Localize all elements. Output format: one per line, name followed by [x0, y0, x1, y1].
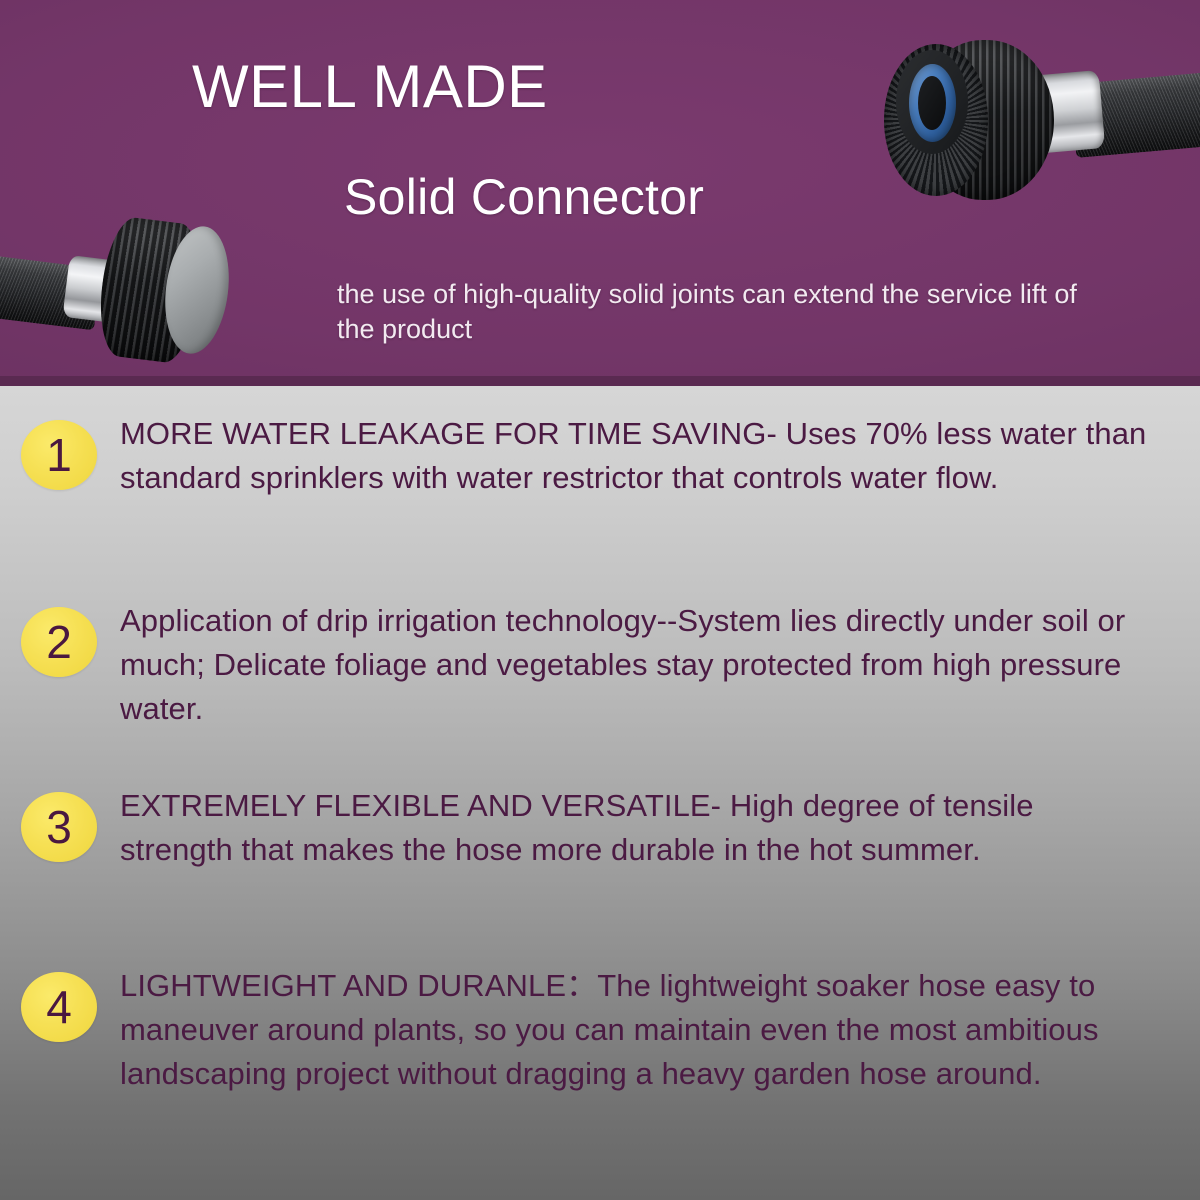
- hero-banner: WELL MADE Solid Connector the use of hig…: [0, 0, 1200, 386]
- feature-number-badge-3: 3: [21, 792, 97, 862]
- washer-bore: [918, 76, 946, 130]
- hose-end-cap-left-image: [0, 206, 258, 376]
- feature-list: 1 MORE WATER LEAKAGE FOR TIME SAVING- Us…: [0, 386, 1200, 1200]
- hero-description: the use of high-quality solid joints can…: [337, 277, 1097, 347]
- feature-item-4: 4 LIGHTWEIGHT AND DURANLE：The lightweigh…: [0, 964, 1200, 1096]
- hero-bottom-divider: [0, 376, 1200, 386]
- feature-text-3: EXTREMELY FLEXIBLE AND VERSATILE- High d…: [120, 784, 1130, 872]
- feature-text-4: LIGHTWEIGHT AND DURANLE：The lightweight …: [120, 964, 1194, 1096]
- feature-text-1: MORE WATER LEAKAGE FOR TIME SAVING- Uses…: [120, 412, 1150, 500]
- feature-item-1: 1 MORE WATER LEAKAGE FOR TIME SAVING- Us…: [0, 412, 1200, 500]
- feature-number-badge-4: 4: [21, 972, 97, 1042]
- hose-connector-nut-right-image: [878, 26, 1200, 226]
- feature-item-2: 2 Application of drip irrigation technol…: [0, 599, 1200, 731]
- product-infographic: WELL MADE Solid Connector the use of hig…: [0, 0, 1200, 1200]
- feature-number-badge-1: 1: [21, 420, 97, 490]
- feature-number-badge-2: 2: [21, 607, 97, 677]
- hero-subtitle: Solid Connector: [344, 168, 704, 226]
- hero-title: WELL MADE: [192, 52, 548, 121]
- feature-text-2: Application of drip irrigation technolog…: [120, 599, 1174, 731]
- feature-item-3: 3 EXTREMELY FLEXIBLE AND VERSATILE- High…: [0, 784, 1200, 872]
